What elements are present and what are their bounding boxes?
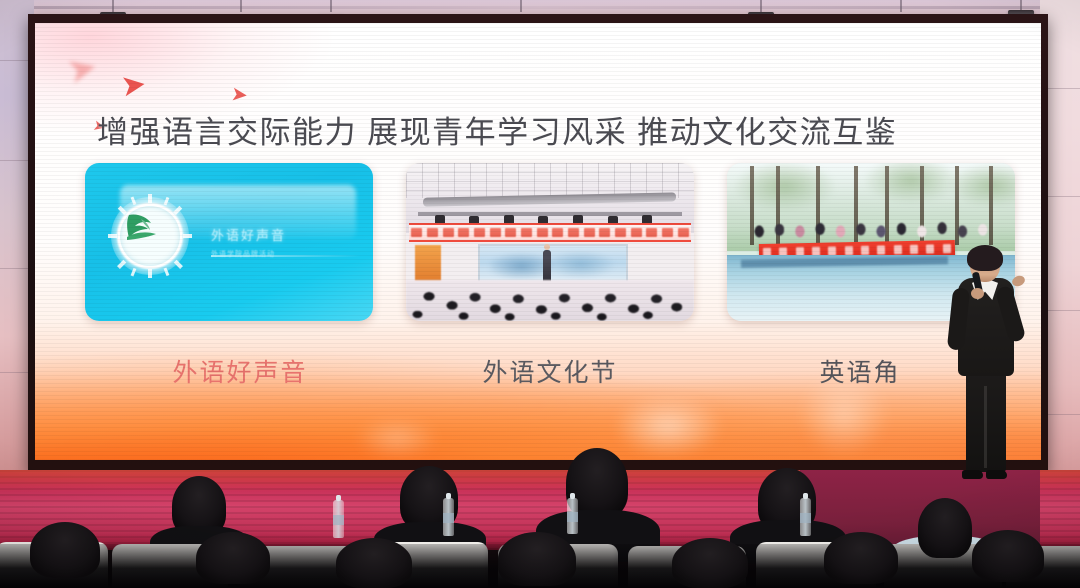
audience-head: [30, 522, 100, 578]
caption-voice: 外语好声音: [85, 353, 395, 389]
slide-card-row: 外语好声音 外语学院品牌活动: [85, 163, 1015, 323]
school-emblem: [111, 197, 189, 275]
emblem-mark-icon: [123, 211, 159, 243]
led-screen-frame: ➤ ➤ ➤ ➤ 增强语言交际能力 展现青年学习风采 推动文化交流互鉴: [28, 14, 1048, 472]
audience-head: [972, 530, 1044, 582]
presentation-slide: ➤ ➤ ➤ ➤ 增强语言交际能力 展现青年学习风采 推动文化交流互鉴: [35, 23, 1041, 460]
board-secondary-text: 外语学院品牌活动: [211, 249, 351, 259]
audience-head: [196, 532, 270, 584]
audience-head: [336, 538, 412, 588]
slide-card-festival: [406, 163, 694, 321]
water-bottle: [567, 498, 578, 534]
water-bottle: [333, 500, 344, 538]
audience-head: [498, 532, 576, 586]
audience-head: [672, 538, 748, 588]
water-bottle: [800, 498, 811, 536]
bird-icon: ➤: [119, 69, 148, 102]
slide-card-voice: 外语好声音 外语学院品牌活动: [85, 163, 373, 321]
water-bottle: [443, 498, 454, 536]
bird-icon: ➤: [230, 84, 249, 106]
audience-foreground: [0, 468, 1080, 588]
conference-hall-photo: ➤ ➤ ➤ ➤ 增强语言交际能力 展现青年学习风采 推动文化交流互鉴: [0, 0, 1080, 588]
slide-headline: 增强语言交际能力 展现青年学习风采 推动文化交流互鉴: [97, 107, 997, 152]
audience-head: [824, 532, 898, 584]
board-text-block: 外语好声音 外语学院品牌活动: [211, 225, 351, 259]
presenter-mic-hand: [971, 288, 984, 299]
board-primary-text: 外语好声音: [211, 225, 351, 244]
caption-festival: 外语文化节: [395, 353, 705, 389]
stage-banner: [409, 223, 691, 242]
presenter: [944, 248, 1030, 490]
slide-caption-row: 外语好声音 外语文化节 英语角: [85, 353, 1015, 389]
audience-head: [918, 498, 972, 558]
hall-audience: [406, 280, 694, 321]
